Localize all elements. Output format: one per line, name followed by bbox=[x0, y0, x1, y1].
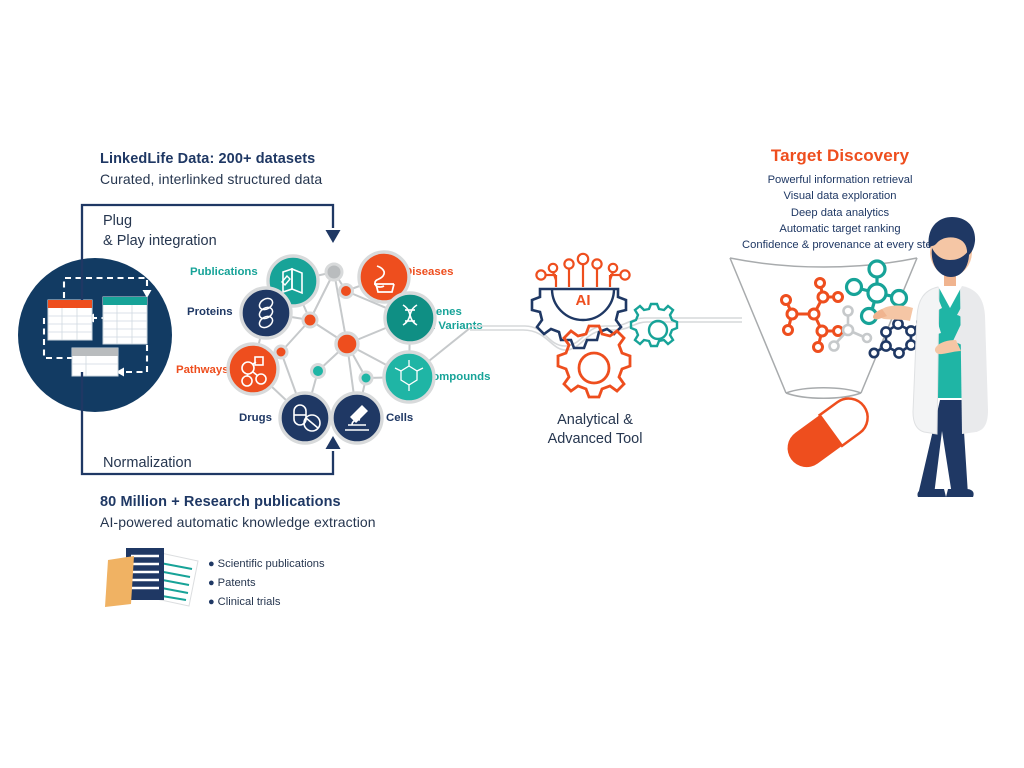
table-orange bbox=[48, 300, 92, 340]
network-node-genes[interactable] bbox=[385, 293, 435, 343]
database-circle-icon bbox=[18, 258, 172, 412]
diagram-artwork: AI bbox=[0, 0, 1024, 768]
orange-gear-icon bbox=[558, 326, 630, 397]
table-gray bbox=[72, 348, 118, 376]
table-teal bbox=[103, 297, 147, 344]
bracket-arrow-down-icon bbox=[326, 230, 341, 243]
network-node-drugs[interactable] bbox=[280, 393, 330, 443]
ai-label: AI bbox=[576, 292, 591, 309]
bracket-arrow-up-icon bbox=[326, 436, 341, 449]
network-node-compounds[interactable] bbox=[384, 352, 434, 402]
network-node-proteins[interactable] bbox=[241, 288, 291, 338]
scientist-figure-icon bbox=[873, 217, 988, 497]
network-node-cells[interactable] bbox=[332, 393, 382, 443]
infographic-canvas: LinkedLife Data: 200+ datasets Curated, … bbox=[0, 0, 1024, 768]
network-node-pathways[interactable] bbox=[228, 344, 278, 394]
documents-stack-icon bbox=[105, 548, 198, 607]
capsule-pill-icon bbox=[780, 391, 875, 475]
teal-gear-icon bbox=[631, 304, 677, 346]
